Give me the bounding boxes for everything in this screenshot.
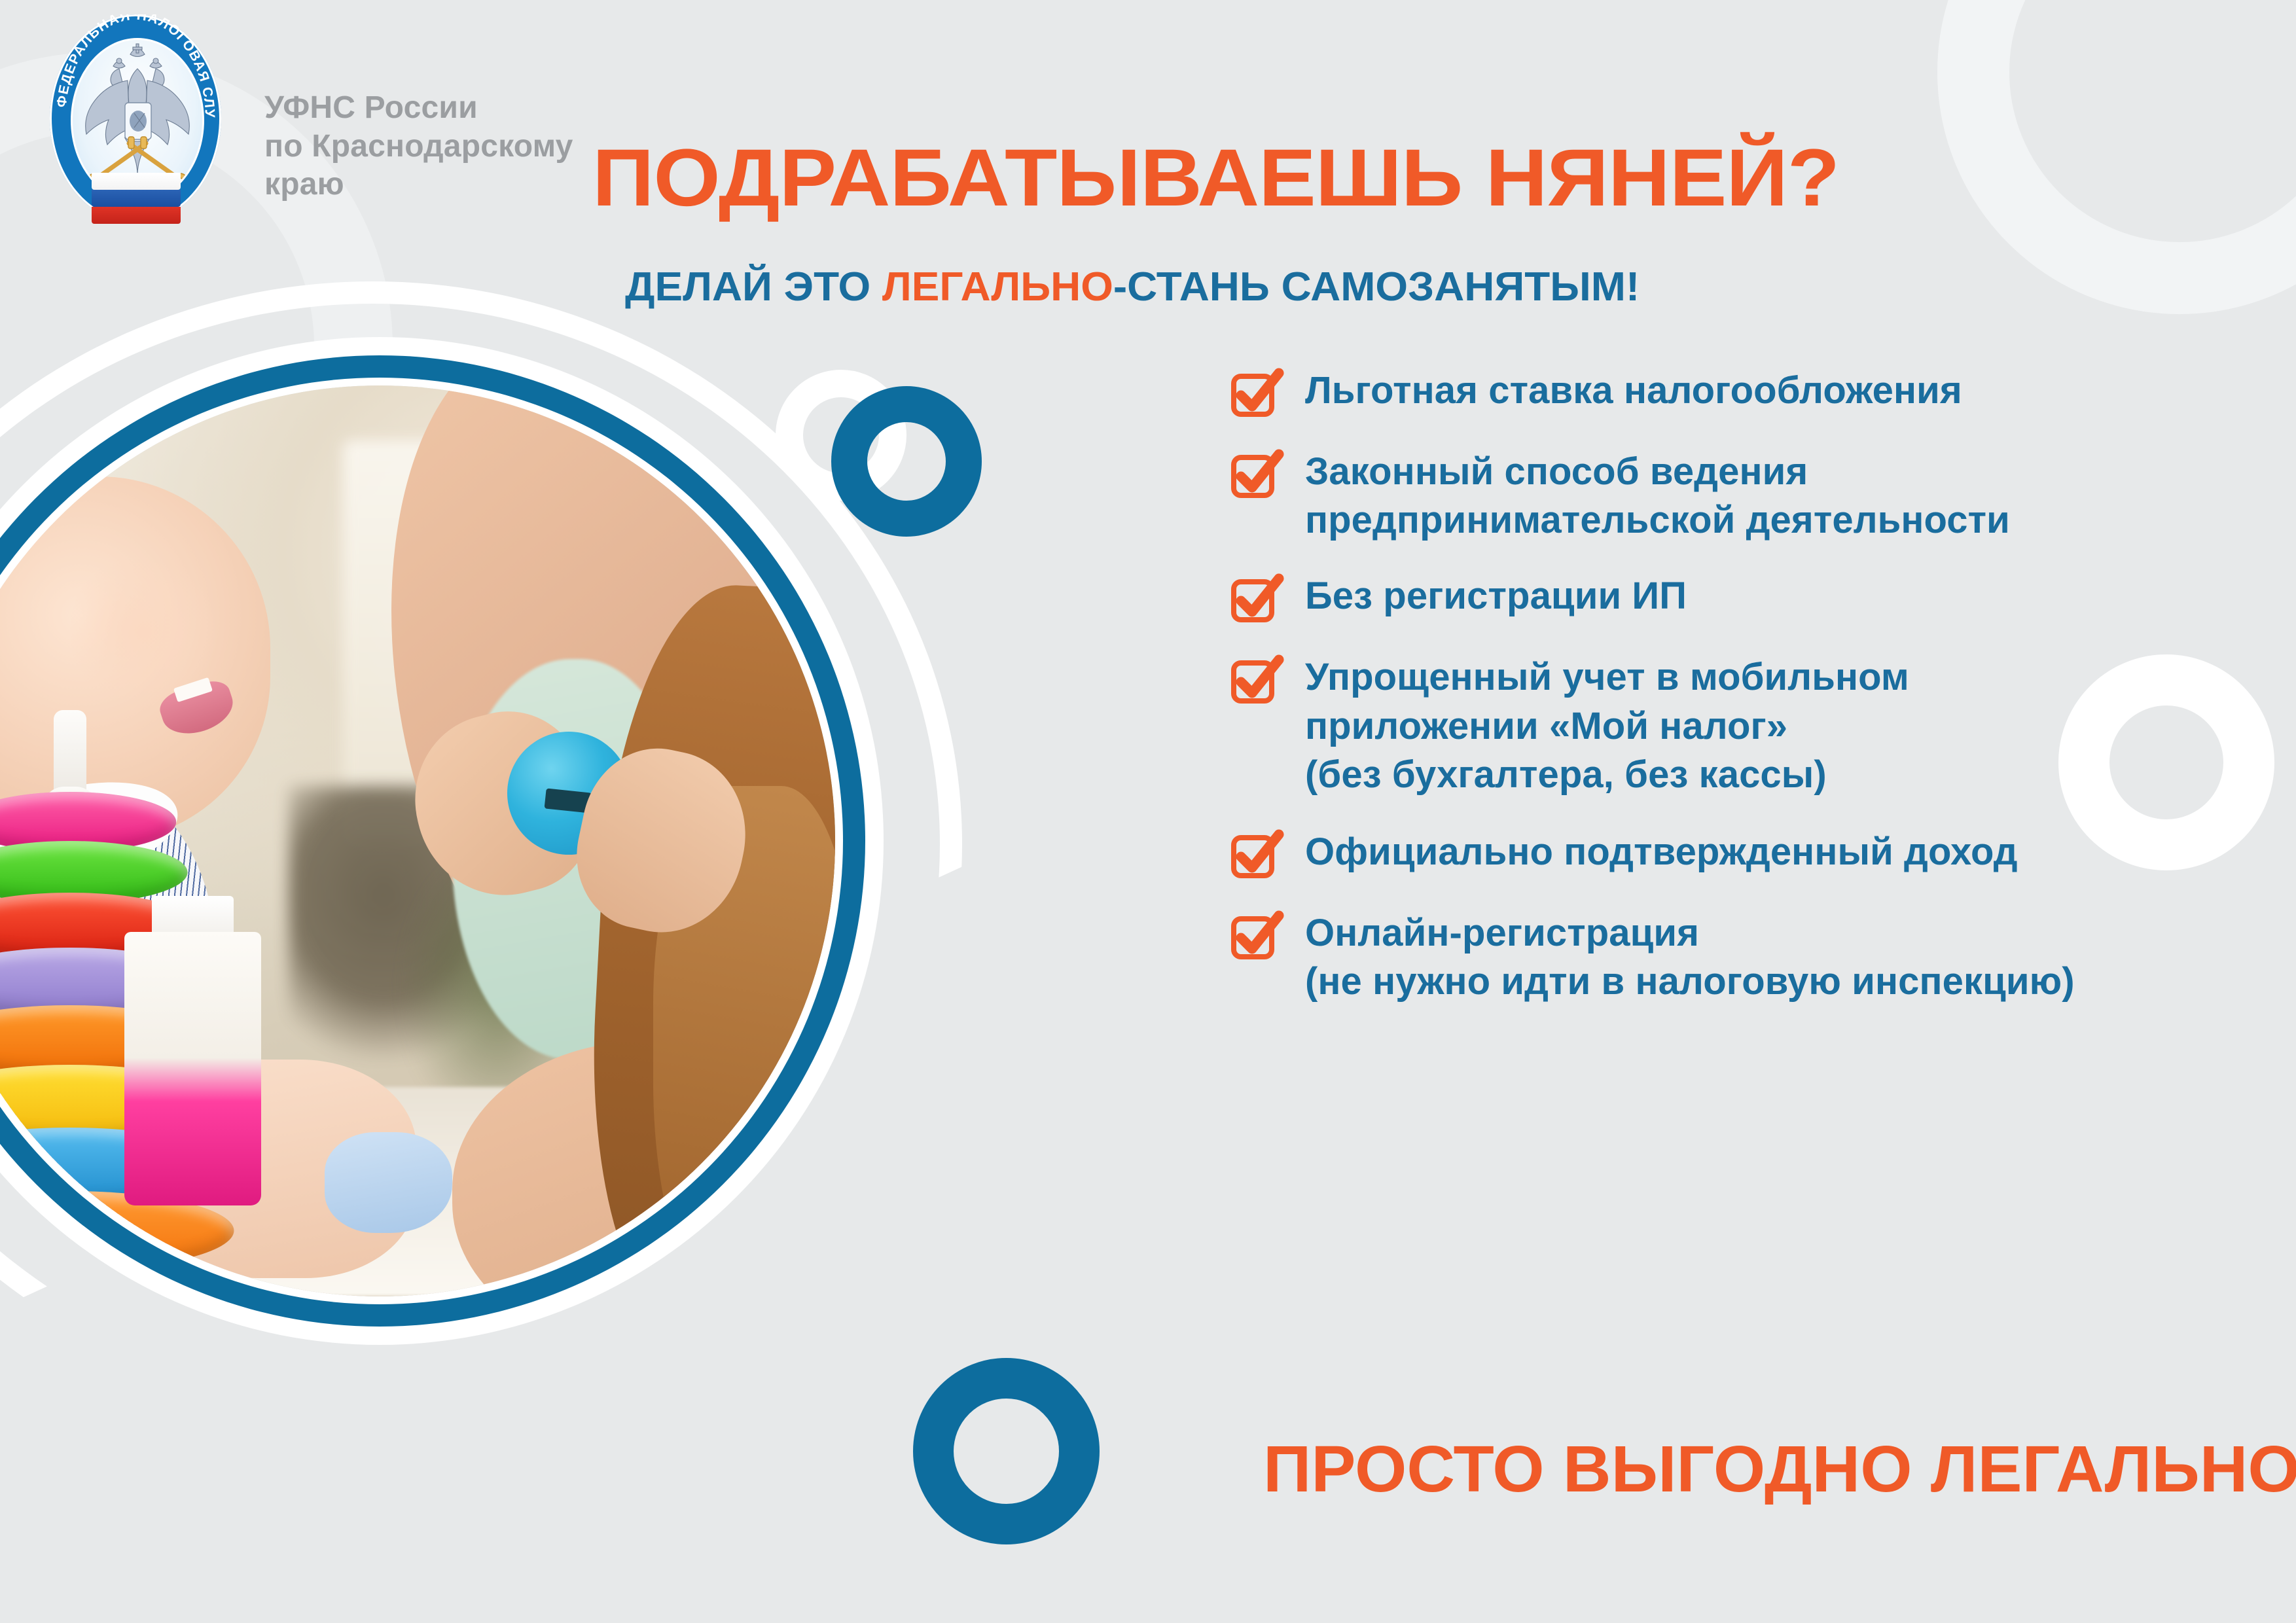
org-label-line2: по Краснодарскому краю [264, 128, 618, 204]
list-item: Без регистрации ИП [1230, 572, 2278, 624]
list-item-text: Законный способ ведения предпринимательс… [1305, 448, 2010, 544]
list-item-text: Без регистрации ИП [1305, 572, 1687, 620]
list-item: Упрощенный учет в мобильном приложении «… [1230, 653, 2278, 799]
list-item-line: Законный способ ведения [1305, 448, 2010, 496]
photo-circle [0, 337, 884, 1345]
list-item-text: Льготная ставка налогообложения [1305, 366, 1962, 415]
org-label-line1: УФНС России [264, 90, 478, 125]
list-item-line: (не нужно идти в налоговую инспекцию) [1305, 957, 2075, 1006]
photo-nanny-and-baby [0, 385, 835, 1296]
list-item-line: Без регистрации ИП [1305, 572, 1687, 620]
fns-emblem: ФЕДЕРАЛЬНАЯ НАЛОГОВАЯ СЛУЖБА [27, 9, 243, 225]
poster-canvas: ФЕДЕРАЛЬНАЯ НАЛОГОВАЯ СЛУЖБА [0, 0, 2296, 1623]
list-item-line: приложении «Мой налог» [1305, 702, 1909, 751]
list-item-text: Официально подтвержденный доход [1305, 828, 2018, 876]
list-item-line: Онлайн-регистрация [1305, 909, 2075, 957]
list-item-line: (без бухгалтера, без кассы) [1305, 751, 1909, 799]
benefits-list: Льготная ставка налогообложения Законный… [1230, 366, 2278, 1035]
decor-ring-small-blue [831, 386, 982, 537]
page-title: ПОДРАБАТЫВАЕШЬ НЯНЕЙ? [592, 137, 1910, 219]
checkbox-checked-icon [1230, 452, 1279, 500]
list-item: Законный способ ведения предпринимательс… [1230, 448, 2278, 544]
subtitle-before: ДЕЛАЙ ЭТО [625, 264, 882, 310]
checkbox-checked-icon [1230, 913, 1279, 961]
list-item-line: Льготная ставка налогообложения [1305, 366, 1962, 415]
russian-flag-icon [92, 173, 181, 224]
list-item-line: Официально подтвержденный доход [1305, 828, 2018, 876]
decor-ring-top-right [1937, 0, 2296, 314]
org-label: УФНС России по Краснодарскому краю [264, 89, 618, 204]
list-item-line: предпринимательской деятельности [1305, 496, 2010, 544]
list-item-text: Онлайн-регистрация (не нужно идти в нало… [1305, 909, 2075, 1006]
subtitle-highlight: ЛЕГАЛЬНО [882, 264, 1113, 310]
checkbox-checked-icon [1230, 370, 1279, 419]
checkbox-checked-icon [1230, 832, 1279, 880]
list-item: Льготная ставка налогообложения [1230, 366, 2278, 419]
list-item: Онлайн-регистрация (не нужно идти в нало… [1230, 909, 2278, 1006]
subtitle-after: -СТАНЬ САМОЗАНЯТЫМ! [1113, 264, 1640, 310]
list-item: Официально подтвержденный доход [1230, 828, 2278, 880]
list-item-text: Упрощенный учет в мобильном приложении «… [1305, 653, 1909, 799]
subtitle: ДЕЛАЙ ЭТО ЛЕГАЛЬНО-СТАНЬ САМОЗАНЯТЫМ! [625, 267, 1906, 308]
footer-slogan: ПРОСТО ВЫГОДНО ЛЕГАЛЬНО [1263, 1436, 2265, 1502]
checkbox-checked-icon [1230, 657, 1279, 705]
checkbox-checked-icon [1230, 576, 1279, 624]
list-item-line: Упрощенный учет в мобильном [1305, 653, 1909, 702]
decor-ring-blue-bottom [913, 1358, 1100, 1544]
